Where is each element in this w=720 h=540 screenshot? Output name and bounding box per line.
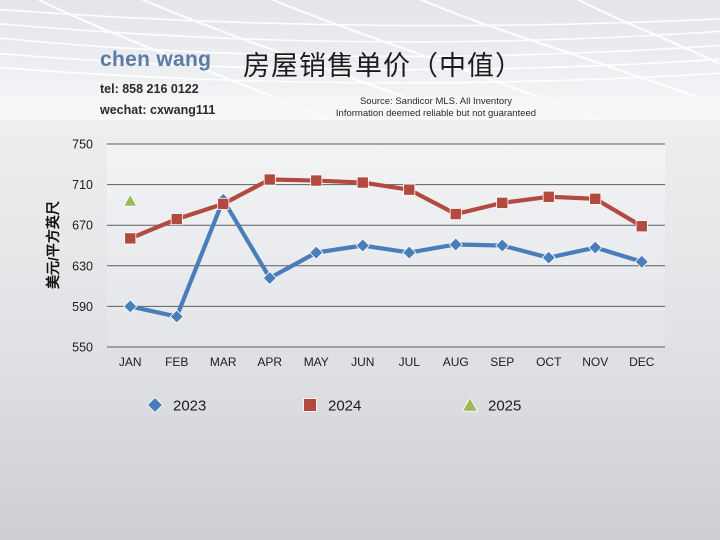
x-axis-tick-labels: JANFEBMARAPRMAYJUNJULAUGSEPOCTNOVDEC (119, 355, 655, 369)
x-tick-label: FEB (165, 355, 188, 369)
x-tick-label: MAR (210, 355, 237, 369)
y-tick-label: 590 (72, 300, 93, 314)
x-tick-label: OCT (536, 355, 562, 369)
y-axis-tick-labels: 550590630670710750 (72, 138, 93, 355)
legend-item-2025[interactable]: 2025 (463, 398, 522, 415)
x-tick-label: NOV (582, 355, 608, 369)
y-tick-label: 550 (72, 341, 93, 355)
square-marker (404, 184, 415, 195)
chart-legend: 202320242025 (148, 398, 522, 415)
square-marker (636, 221, 647, 232)
x-tick-label: JAN (119, 355, 142, 369)
y-tick-label: 750 (72, 138, 93, 152)
y-tick-label: 670 (72, 219, 93, 233)
triangle-marker (463, 398, 478, 412)
x-tick-label: MAY (304, 355, 329, 369)
square-marker (590, 193, 601, 204)
x-tick-label: AUG (443, 355, 469, 369)
x-tick-label: APR (257, 355, 282, 369)
square-marker (357, 177, 368, 188)
square-marker (264, 174, 275, 185)
square-marker (450, 208, 461, 219)
y-axis-title: 美元/平方英尺 (45, 201, 61, 289)
legend-item-2023[interactable]: 2023 (148, 398, 207, 415)
square-marker (218, 198, 229, 209)
x-tick-label: SEP (490, 355, 514, 369)
slide: chen wang tel: 858 216 0122 wechat: cxwa… (0, 0, 720, 540)
x-tick-label: JUN (351, 355, 374, 369)
x-tick-label: JUL (399, 355, 421, 369)
x-tick-label: DEC (629, 355, 655, 369)
diamond-marker (148, 398, 163, 413)
line-chart: 550590630670710750 JANFEBMARAPRMAYJUNJUL… (0, 0, 720, 540)
plot-area-background (107, 144, 665, 347)
legend-item-2024[interactable]: 2024 (304, 398, 362, 415)
square-marker (304, 399, 317, 412)
square-marker (311, 175, 322, 186)
square-marker (543, 191, 554, 202)
square-marker (125, 233, 136, 244)
legend-label-2023: 2023 (173, 398, 206, 415)
legend-label-2024: 2024 (328, 398, 361, 415)
square-marker (171, 214, 182, 225)
y-tick-label: 630 (72, 259, 93, 273)
y-tick-label: 710 (72, 178, 93, 192)
legend-label-2025: 2025 (488, 398, 521, 415)
square-marker (497, 197, 508, 208)
